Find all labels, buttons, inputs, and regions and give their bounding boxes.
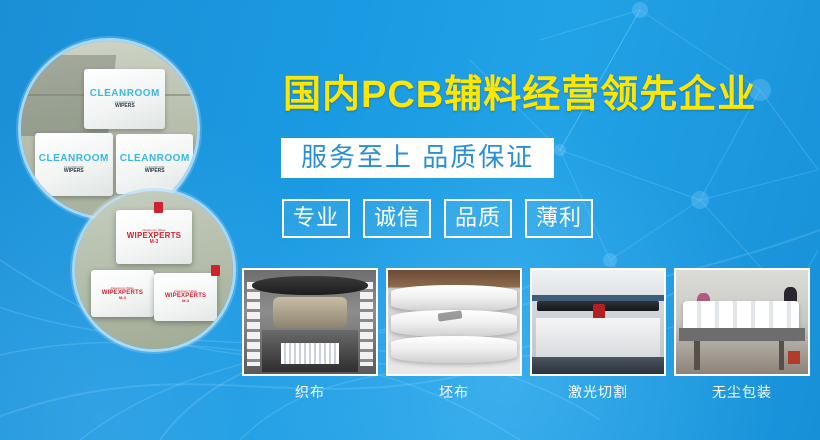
process-thumbnail-greige-cloth: 坯布 bbox=[386, 268, 522, 399]
wipexperts-scene: Cleanroom Wiper WIPEXPERTS M-3 Cleanroom… bbox=[75, 191, 233, 349]
room-wall bbox=[532, 270, 664, 297]
package-brand: CLEANROOM bbox=[39, 154, 109, 164]
package-type: WIPERS bbox=[115, 104, 135, 109]
package-brand: CLEANROOM bbox=[120, 154, 190, 164]
bale-model: M-3 bbox=[150, 240, 159, 245]
laser-cutting-scene bbox=[532, 270, 664, 374]
machine-drum bbox=[273, 297, 347, 328]
subtitle-box: 服务至上 品质保证 bbox=[281, 138, 554, 178]
wipe-package: CLEANROOM CLEANROOM WIPERS bbox=[116, 134, 193, 194]
process-thumbnail-weaving: 织布 bbox=[242, 268, 378, 399]
product-photo-wipexperts: Cleanroom Wiper WIPEXPERTS M-3 Cleanroom… bbox=[72, 188, 236, 352]
packing-room-scene bbox=[676, 270, 808, 374]
machine-frame bbox=[532, 357, 664, 374]
yarn-spools bbox=[247, 282, 260, 365]
subtitle-text: 服务至上 品质保证 bbox=[301, 142, 534, 172]
feature-tag-professional: 专业 bbox=[282, 199, 350, 238]
headline: 国内PCB辅料经营领先企业 bbox=[283, 76, 756, 114]
machine-creel-ring bbox=[252, 276, 368, 295]
cutting-bed bbox=[536, 318, 660, 360]
feature-tag-integrity: 诚信 bbox=[363, 199, 431, 238]
table-leg bbox=[779, 341, 784, 370]
process-thumbnail-list: 织布 坯布 bbox=[242, 268, 810, 399]
thumbnail-caption: 坯布 bbox=[386, 385, 522, 399]
feature-tag-lowmargin: 薄利 bbox=[525, 199, 593, 238]
thumbnail-caption: 无尘包装 bbox=[674, 385, 810, 399]
work-table bbox=[679, 328, 806, 340]
bale-model: M-3 bbox=[119, 296, 126, 300]
process-thumbnail-laser-cutting: 激光切割 bbox=[530, 268, 666, 399]
package-brand: CLEANROOM bbox=[90, 89, 160, 99]
thumbnail-caption: 织布 bbox=[242, 385, 378, 399]
promo-banner: CLEANROOM CLEANROOM WIPERS CLEANROOM CLE… bbox=[0, 0, 820, 440]
yarn-spools bbox=[360, 282, 373, 365]
table-leg bbox=[694, 341, 699, 370]
fabric-rolls-scene bbox=[388, 270, 520, 374]
thumbnail-image-fabric-rolls bbox=[386, 268, 522, 376]
wipe-package: CLEANROOM CLEANROOM WIPERS bbox=[84, 69, 165, 129]
wipe-bale: Cleanroom Wiper WIPEXPERTS M-3 bbox=[154, 273, 217, 320]
thumbnail-image-packing-room bbox=[674, 268, 810, 376]
thumbnail-caption: 激光切割 bbox=[530, 385, 666, 399]
wipe-package: CLEANROOM CLEANROOM WIPERS bbox=[35, 133, 112, 196]
fabric-roll bbox=[391, 285, 518, 312]
knitted-fabric bbox=[281, 343, 339, 364]
feature-tag-quality: 品质 bbox=[444, 199, 512, 238]
feature-tag-list: 专业 诚信 品质 薄利 bbox=[282, 199, 593, 238]
wipe-bale: Cleanroom Wiper WIPEXPERTS M-3 bbox=[91, 270, 154, 317]
floor-crate bbox=[788, 351, 800, 363]
thumbnail-image-knitting-machine bbox=[242, 268, 378, 376]
process-thumbnail-cleanroom-packing: 无尘包装 bbox=[674, 268, 810, 399]
knitting-machine-scene bbox=[244, 270, 376, 374]
fabric-roll bbox=[391, 336, 518, 363]
package-type: WIPERS bbox=[64, 169, 84, 174]
package-type: WIPERS bbox=[145, 169, 165, 174]
wipe-bale: Cleanroom Wiper WIPEXPERTS M-3 bbox=[116, 210, 192, 264]
bale-model: M-3 bbox=[182, 299, 189, 303]
bale-mark bbox=[154, 202, 163, 213]
thumbnail-image-laser-cutter bbox=[530, 268, 666, 376]
bale-mark bbox=[211, 265, 220, 276]
